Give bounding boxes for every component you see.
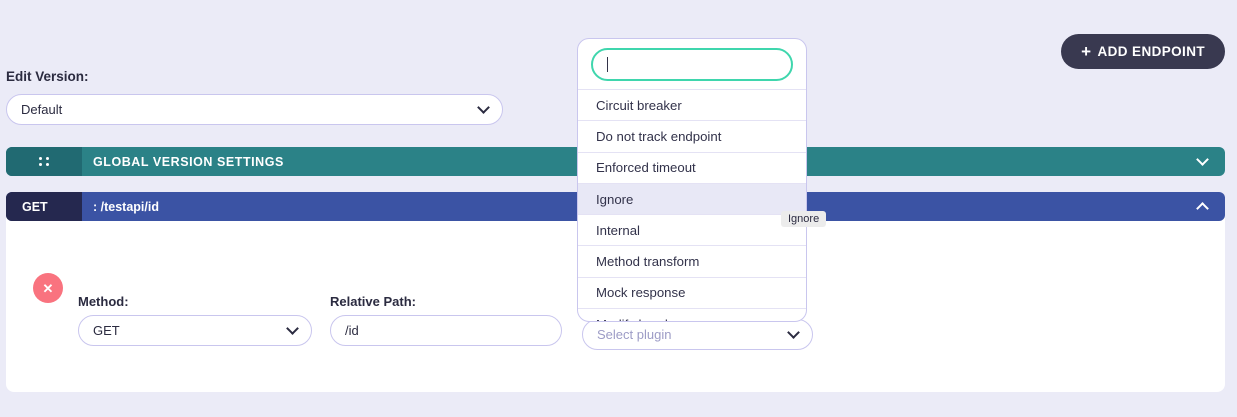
plugin-option-circuit-breaker[interactable]: Circuit breaker <box>578 89 806 120</box>
version-select-value: Default <box>21 102 479 117</box>
chevron-down-icon <box>477 101 490 114</box>
plugin-option-label: Ignore <box>596 192 633 207</box>
add-endpoint-label: ADD ENDPOINT <box>1097 44 1205 59</box>
plugin-search-input[interactable] <box>591 48 793 81</box>
delete-endpoint-button[interactable]: ✕ <box>33 273 63 303</box>
drag-handle-icon[interactable] <box>6 147 82 176</box>
plugin-option-label: Do not track endpoint <box>596 129 721 144</box>
method-field-label: Method: <box>78 294 312 309</box>
plugin-field: Select plugin <box>582 319 813 350</box>
plugin-dropdown-panel: Circuit breaker Do not track endpoint En… <box>577 38 807 322</box>
plugin-option-label: Enforced timeout <box>596 160 696 175</box>
plugin-select-placeholder: Select plugin <box>597 327 789 342</box>
tooltip: Ignore <box>781 211 826 227</box>
plugin-option-list: Circuit breaker Do not track endpoint En… <box>578 89 806 322</box>
global-bar-chevron-down-icon[interactable] <box>1179 155 1225 168</box>
chevron-down-icon <box>286 322 299 335</box>
plus-icon: + <box>1081 43 1091 60</box>
plugin-option-ignore[interactable]: Ignore <box>578 183 806 214</box>
plugin-option-method-transform[interactable]: Method transform <box>578 245 806 276</box>
version-select[interactable]: Default <box>6 94 503 125</box>
method-field: Method: GET <box>78 294 312 346</box>
method-select[interactable]: GET <box>78 315 312 346</box>
method-select-value: GET <box>93 323 288 338</box>
endpoint-method-badge: GET <box>6 192 82 221</box>
plugin-option-mock-response[interactable]: Mock response <box>578 277 806 308</box>
relative-path-label: Relative Path: <box>330 294 562 309</box>
plugin-option-do-not-track-endpoint[interactable]: Do not track endpoint <box>578 120 806 151</box>
relative-path-input[interactable]: /id <box>330 315 562 346</box>
text-caret <box>607 57 608 72</box>
plugin-option-label: Mock response <box>596 285 685 300</box>
plugin-option-enforced-timeout[interactable]: Enforced timeout <box>578 152 806 183</box>
plugin-option-modify-headers[interactable]: Modify headers <box>578 308 806 322</box>
plugin-select[interactable]: Select plugin <box>582 319 813 350</box>
edit-version-label: Edit Version: <box>6 69 89 84</box>
chevron-down-icon <box>787 326 800 339</box>
close-icon: ✕ <box>43 282 54 295</box>
plugin-option-internal[interactable]: Internal <box>578 214 806 245</box>
plugin-option-label: Method transform <box>596 254 699 269</box>
endpoint-bar-chevron-up-icon[interactable] <box>1179 204 1225 210</box>
plugin-option-label: Modify headers <box>596 317 686 322</box>
drag-dots <box>39 157 49 166</box>
app-page: + ADD ENDPOINT Edit Version: Default GLO… <box>0 0 1237 417</box>
relative-path-field: Relative Path: /id <box>330 294 562 346</box>
plugin-option-label: Internal <box>596 223 640 238</box>
plugin-option-label: Circuit breaker <box>596 98 682 113</box>
add-endpoint-button[interactable]: + ADD ENDPOINT <box>1061 34 1225 69</box>
relative-path-value: /id <box>345 323 547 338</box>
